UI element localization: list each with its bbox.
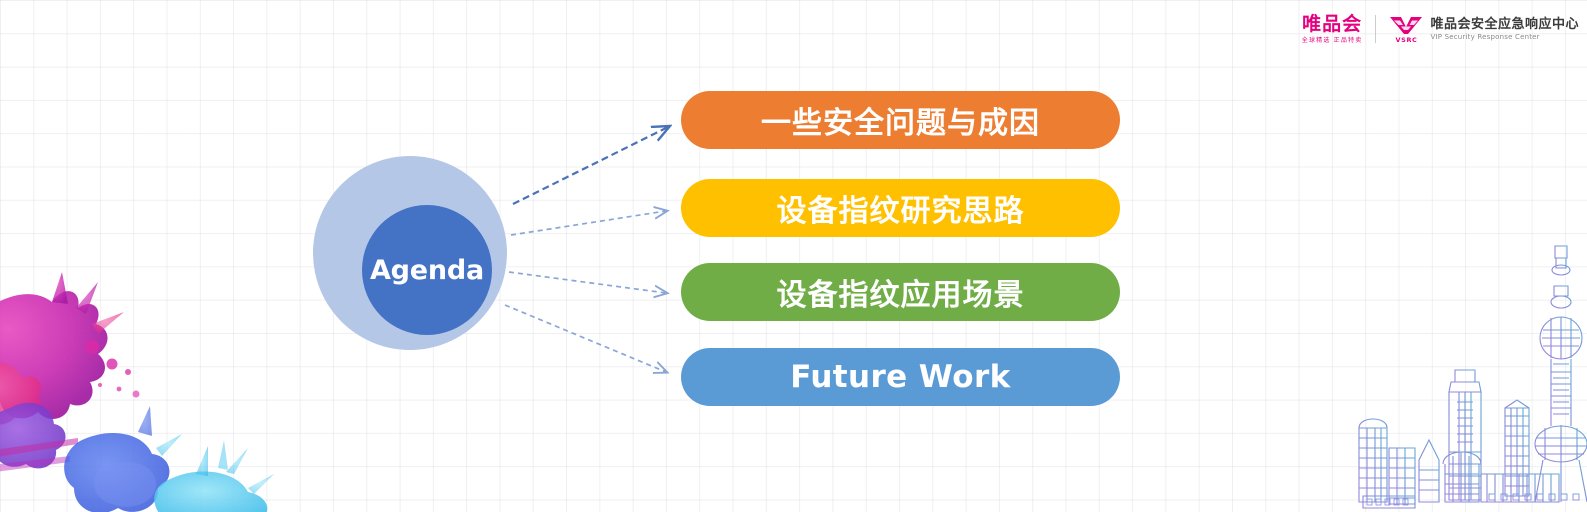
agenda-circle-inner: Agenda — [362, 205, 492, 335]
vsrc-titles: 唯品会安全应急响应中心 VIP Security Response Center — [1430, 17, 1579, 41]
agenda-item-3[interactable]: 设备指纹应用场景 — [681, 263, 1120, 321]
vsrc-mark-text: VSRC — [1396, 36, 1418, 44]
agenda-item-2[interactable]: 设备指纹研究思路 — [681, 179, 1120, 237]
vipshop-logo: 唯品会 全球精选 正品特卖 — [1302, 14, 1363, 44]
connector-line-2 — [511, 211, 666, 235]
agenda-circle-outer: Agenda — [313, 156, 507, 350]
connector-line-1 — [513, 127, 668, 204]
agenda-item-1-label: 一些安全问题与成因 — [761, 98, 1040, 142]
vsrc-wing-icon: VSRC — [1389, 15, 1423, 44]
agenda-item-1[interactable]: 一些安全问题与成因 — [681, 91, 1120, 149]
vipshop-logo-tagline: 全球精选 正品特卖 — [1302, 35, 1363, 44]
city-skyline-decoration — [1329, 212, 1587, 512]
agenda-item-4-label: Future Work — [790, 359, 1010, 395]
vsrc-logo: VSRC 唯品会安全应急响应中心 VIP Security Response C… — [1389, 15, 1579, 44]
connector-line-3 — [509, 272, 666, 293]
paint-splash-decoration — [0, 268, 276, 512]
slide-canvas: 唯品会 全球精选 正品特卖 VSRC 唯品会安全应急响应中心 VIP Secur… — [0, 0, 1587, 512]
agenda-item-3-label: 设备指纹应用场景 — [777, 270, 1025, 314]
agenda-label: Agenda — [370, 255, 484, 286]
vipshop-logo-name: 唯品会 — [1302, 14, 1362, 34]
vsrc-title-cn: 唯品会安全应急响应中心 — [1430, 17, 1579, 32]
brand-bar: 唯品会 全球精选 正品特卖 VSRC 唯品会安全应急响应中心 VIP Secur… — [1302, 9, 1579, 49]
connector-line-4 — [505, 305, 666, 372]
brand-divider — [1375, 15, 1376, 43]
vsrc-title-en: VIP Security Response Center — [1430, 33, 1579, 41]
agenda-item-4[interactable]: Future Work — [681, 348, 1120, 406]
agenda-item-2-label: 设备指纹研究思路 — [777, 186, 1025, 230]
